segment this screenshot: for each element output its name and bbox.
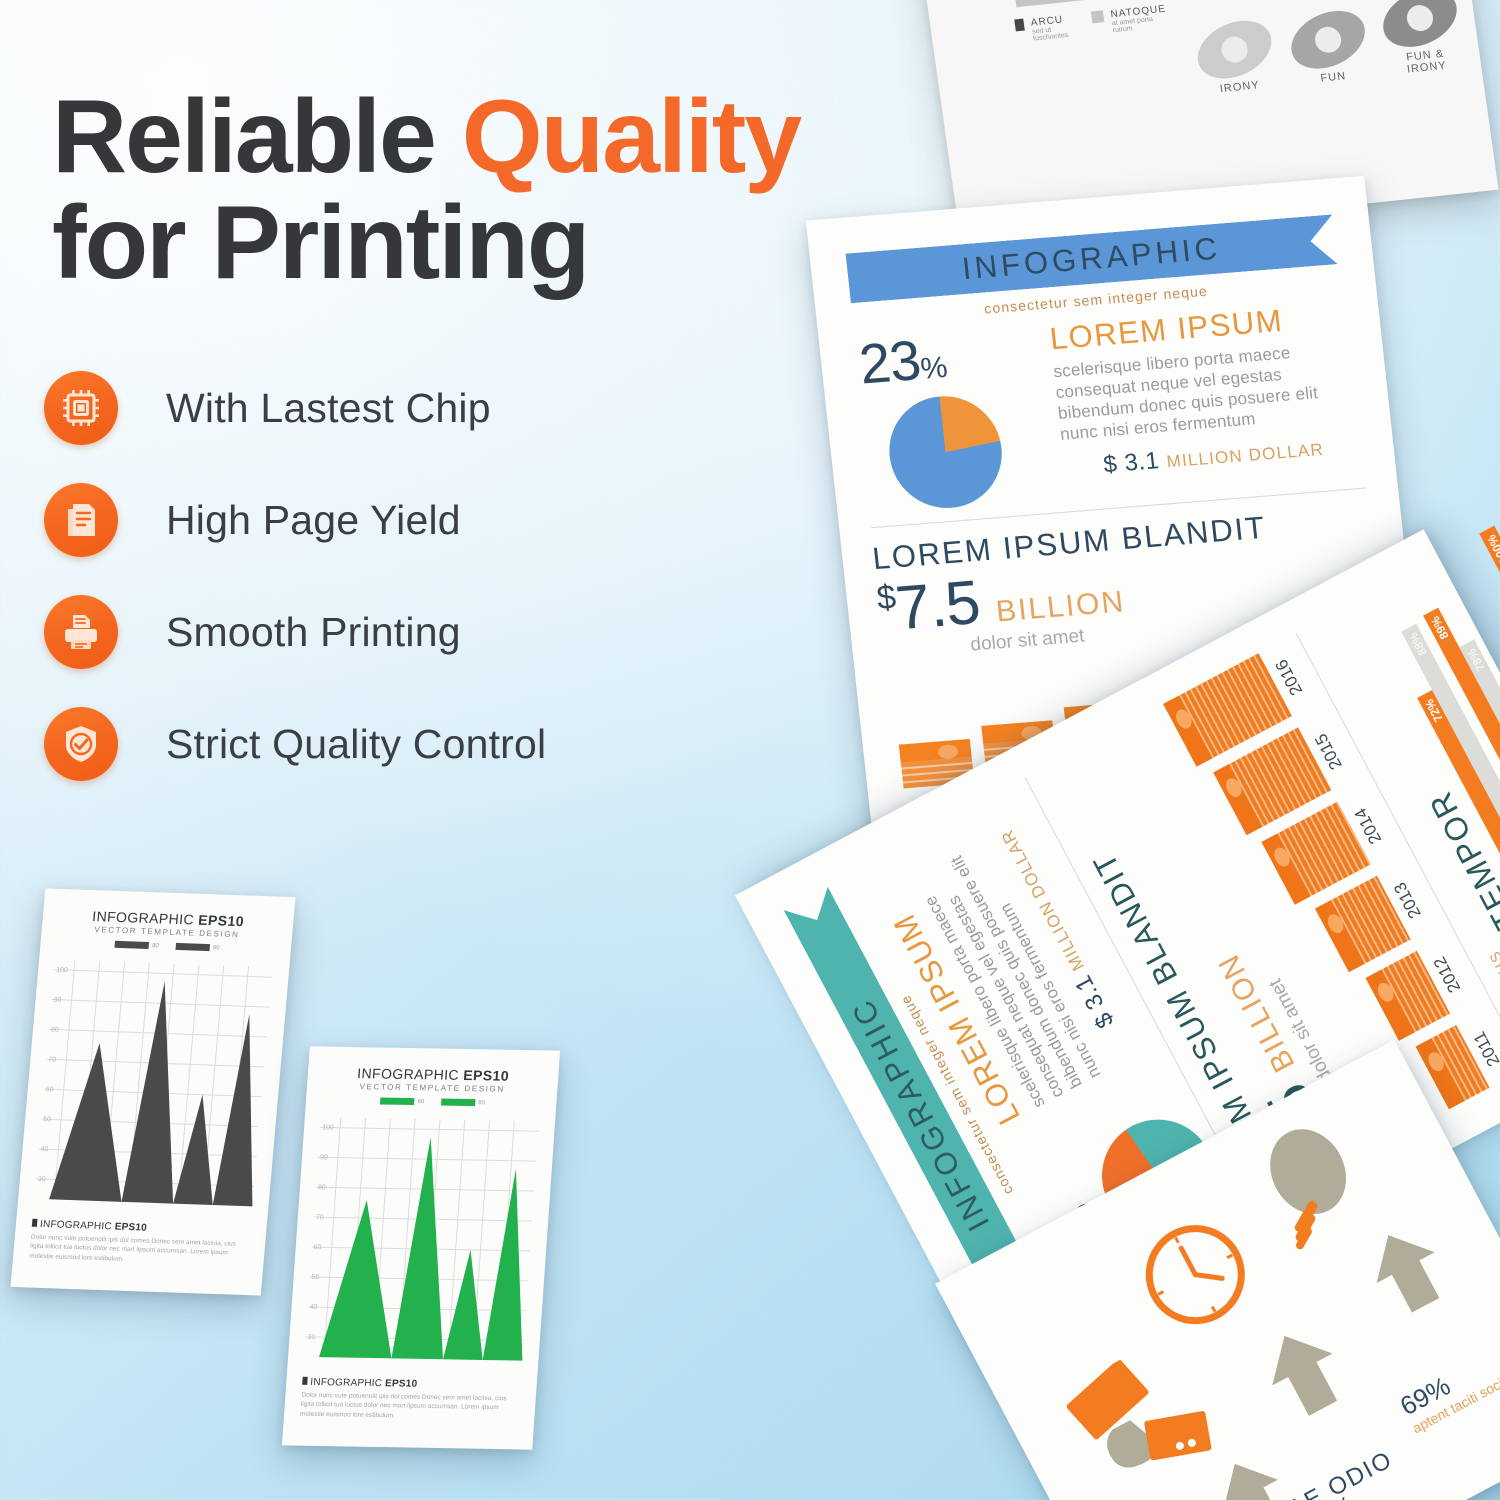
ellipse-stat: FUN [1286,10,1373,87]
svg-text:90: 90 [53,997,61,1004]
ellipse-caption: FUN & IRONY [1386,46,1467,78]
eps-footer: INFOGRAPHIC EPS10 Dolor nunc vute potuen… [300,1377,521,1423]
svg-text:80: 80 [318,1184,326,1191]
legend-sublabel: sed ut fuschiantes [1032,25,1073,43]
feature-item-chip: With Lastest Chip [44,352,744,464]
document-icon [44,483,118,557]
table-row: 10 - 12mattis [950,0,1163,6]
infographic-sheet-eps-green: INFOGRAPHIC EPS10 VECTOR TEMPLATE DESIGN… [282,1046,560,1449]
infographic-sheet-eps-grey: INFOGRAPHIC EPS10 VECTOR TEMPLATE DESIGN… [10,888,295,1295]
svg-text:40: 40 [309,1304,317,1311]
feature-list: With Lastest Chip High Page Yield [44,352,744,800]
feature-item-smooth-printing: Smooth Printing [44,576,744,688]
eps-area-chart: 1009080 706050 4030 [303,1117,539,1370]
feature-label: Smooth Printing [166,609,461,656]
eps-area-chart: 1009080 706050 4030 [33,960,273,1217]
ellipse-stat: FUN & IRONY [1377,0,1466,78]
ellipse-stat-group: IRONY FUN FUN & IRONY [1190,0,1466,97]
eps-legend: 80 80 [322,1096,541,1107]
blandit-number: $7.5 [874,567,983,646]
printer-icon [44,595,118,669]
feature-label: High Page Yield [166,497,461,544]
eps-footer: INFOGRAPHIC EPS10 Dolor nunc vute potuen… [29,1219,251,1269]
svg-text:60: 60 [45,1086,53,1093]
svg-text:60: 60 [314,1244,322,1251]
headline-line2: for Printing [52,190,912,296]
svg-text:70: 70 [316,1214,324,1221]
svg-text:80: 80 [51,1026,59,1033]
svg-text:30: 30 [307,1334,315,1341]
chip-icon [44,371,118,445]
page-title: Reliable Quality for Printing [52,84,912,296]
headline-line1-plain: Reliable [52,79,462,195]
headline-line1-accent: Quality [462,79,801,195]
feature-label: With Lastest Chip [166,385,491,432]
eps-legend: 80 80 [56,939,275,954]
svg-text:70: 70 [48,1056,56,1063]
feature-label: Strict Quality Control [166,721,546,768]
eps-footer-body: Dolor nunc vute potuenolit ipis dol come… [300,1391,520,1423]
feature-item-page-yield: High Page Yield [44,464,744,576]
icon-stat-1: 69% aptent taciti sociosqu [1395,1333,1500,1437]
svg-text:50: 50 [311,1274,319,1281]
svg-text:30: 30 [38,1176,46,1183]
arrow-up-icon [1351,1212,1463,1330]
ellipse-caption: FUN [1294,67,1373,87]
svg-text:100: 100 [56,967,68,974]
svg-text:40: 40 [40,1146,48,1153]
svg-text:50: 50 [43,1116,51,1123]
svg-text:100: 100 [322,1124,334,1131]
shield-check-icon [44,707,118,781]
year-column: 2011 [1416,1013,1500,1110]
ellipse-caption: IRONY [1200,77,1279,97]
feature-item-quality-control: Strict Quality Control [44,688,744,800]
hero-section: 23% LOREM IPSUM scelerisque libero porta… [849,297,1367,514]
eps-footer-body: Dolor nunc vute potuenolit ipis dol come… [29,1233,250,1269]
hero-percent: 23% [857,322,1045,392]
pie-chart [884,392,1008,512]
svg-text:90: 90 [320,1154,328,1161]
ellipse-stat: IRONY [1192,20,1279,97]
clock-icon [1114,1193,1276,1355]
arrow-up-icon [1246,1312,1361,1433]
